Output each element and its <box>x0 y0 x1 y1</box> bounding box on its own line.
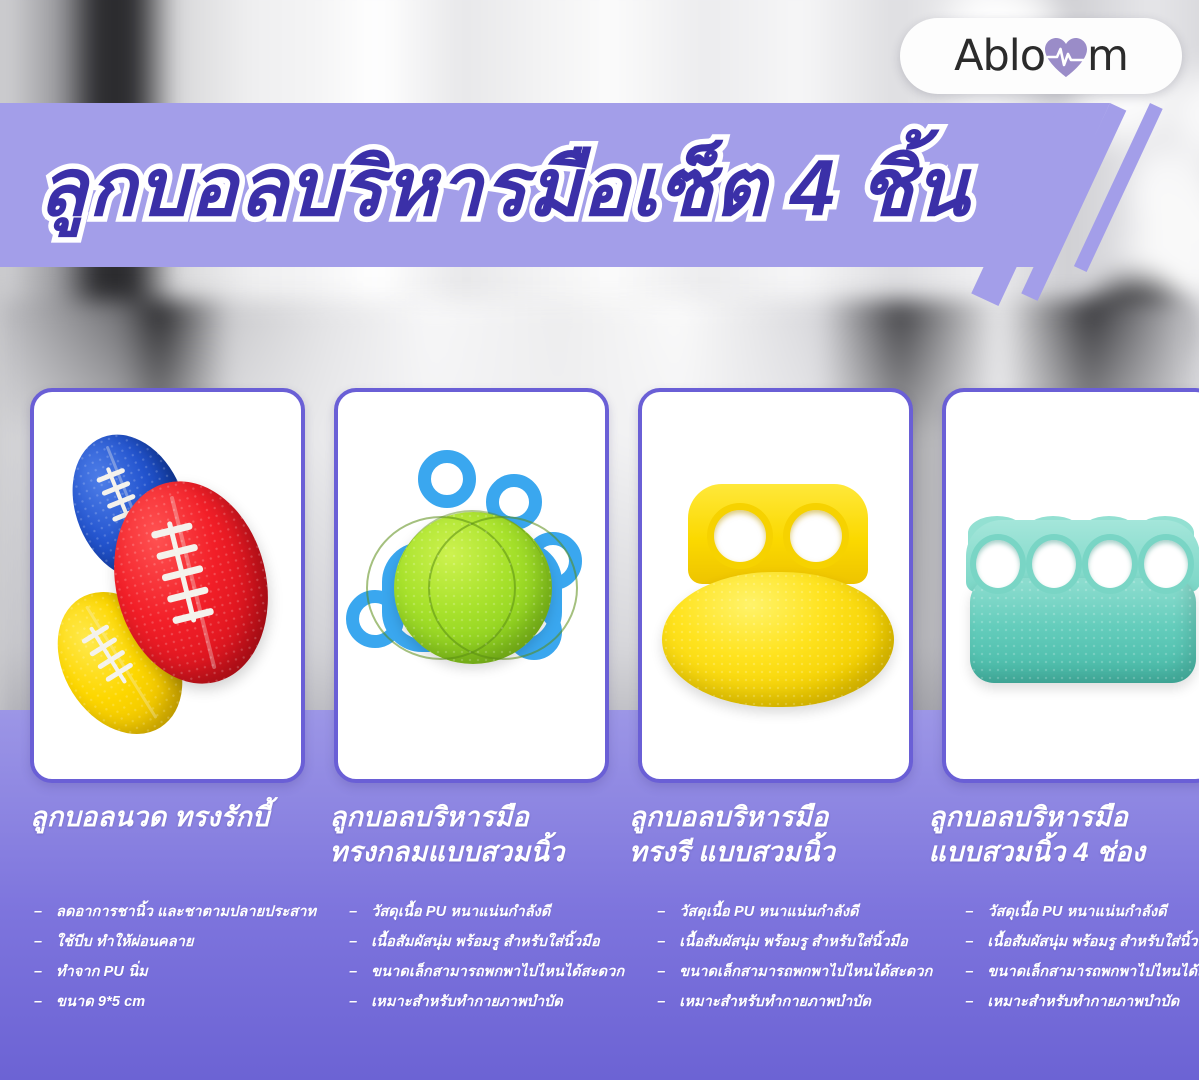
product-image-card-1[interactable] <box>30 388 305 783</box>
list-item: ทำจาก PU นิ่ม <box>30 965 316 981</box>
teal-grip-body <box>970 578 1196 683</box>
product-title-2-line2: ทรงกลมแบบสวมนิ้ว <box>330 835 601 870</box>
green-exercise-ball <box>394 512 552 664</box>
product-image-card-4[interactable] <box>942 388 1199 783</box>
yellow-two-hole-grip-photo <box>642 392 909 779</box>
list-item: วัสดุเนื้อ PU หนาแน่นกำลังดี <box>653 905 932 921</box>
teal-grip-hole-2 <box>1032 540 1076 588</box>
list-item: ขนาดเล็กสามารถพกพาไปไหนได้สะดวก <box>961 965 1199 981</box>
product-title-3-line2: ทรงรี แบบสวมนิ้ว <box>629 835 900 870</box>
feature-list-3: วัสดุเนื้อ PU หนาแน่นกำลังดี เนื้อสัมผัส… <box>653 905 932 1011</box>
brand-logo: Ablo m <box>900 18 1182 94</box>
feature-list-2: วัสดุเนื้อ PU หนาแน่นกำลังดี เนื้อสัมผัส… <box>345 905 624 1011</box>
teal-grip-hole-3 <box>1088 540 1132 588</box>
product-image-card-3[interactable] <box>638 388 913 783</box>
list-item: ขนาดเล็กสามารถพกพาไปไหนได้สะดวก <box>653 965 932 981</box>
list-item: วัสดุเนื้อ PU หนาแน่นกำลังดี <box>961 905 1199 921</box>
product-title-2-line1: ลูกบอลบริหารมือ <box>330 802 530 832</box>
teal-grip-hole-4 <box>1144 540 1188 588</box>
product-title-1: ลูกบอลนวด ทรงรักบี้ <box>30 800 301 872</box>
product-title-4: ลูกบอลบริหารมือ แบบสวมนิ้ว 4 ช่อง <box>929 800 1199 872</box>
list-item: เหมาะสำหรับทำกายภาพบำบัด <box>345 995 624 1011</box>
page-title: ลูกบอลบริหารมือเซ็ต 4 ชิ้น <box>38 118 1058 258</box>
list-item: เนื้อสัมผัสนุ่ม พร้อมรู สำหรับใส่นิ้วมือ <box>961 935 1199 951</box>
list-item: เนื้อสัมผัสนุ่ม พร้อมรู สำหรับใส่นิ้วมือ <box>653 935 932 951</box>
product-cards-row <box>0 388 1199 788</box>
product-title-4-line1: ลูกบอลบริหารมือ <box>929 802 1129 832</box>
yellow-grip-body <box>662 572 894 707</box>
product-title-4-line2: แบบสวมนิ้ว 4 ช่อง <box>929 835 1199 870</box>
product-title-3-line1: ลูกบอลบริหารมือ <box>629 802 829 832</box>
logo-text-after: m <box>1087 35 1128 78</box>
feature-list-4: วัสดุเนื้อ PU หนาแน่นกำลังดี เนื้อสัมผัส… <box>961 905 1199 1011</box>
list-item: ลดอาการชานิ้ว และชาตามปลายประสาท <box>30 905 316 921</box>
heart-pulse-icon <box>1043 34 1089 78</box>
teal-four-hole-grip-photo <box>946 392 1199 779</box>
finger-loop-1 <box>418 450 476 508</box>
list-item: ขนาด 9*5 cm <box>30 995 316 1011</box>
list-item: เนื้อสัมผัสนุ่ม พร้อมรู สำหรับใส่นิ้วมือ <box>345 935 624 951</box>
list-item: ขนาดเล็กสามารถพกพาไปไหนได้สะดวก <box>345 965 624 981</box>
list-item: วัสดุเนื้อ PU หนาแน่นกำลังดี <box>345 905 624 921</box>
product-features-row: ลดอาการชานิ้ว และชาตามปลายประสาท ใช้บีบ … <box>0 905 1199 1025</box>
rugby-stress-balls-photo <box>34 392 301 779</box>
product-title-1-line1: ลูกบอลนวด ทรงรักบี้ <box>30 802 269 832</box>
product-title-2: ลูกบอลบริหารมือ ทรงกลมแบบสวมนิ้ว <box>330 800 601 872</box>
product-captions-row: ลูกบอลนวด ทรงรักบี้ ลูกบอลบริหารมือ ทรงก… <box>0 800 1199 872</box>
product-title-3: ลูกบอลบริหารมือ ทรงรี แบบสวมนิ้ว <box>629 800 900 872</box>
logo-text-before: Ablo <box>954 35 1045 78</box>
feature-list-1: ลดอาการชานิ้ว และชาตามปลายประสาท ใช้บีบ … <box>30 905 316 1011</box>
yellow-grip-hole-1 <box>714 510 766 562</box>
list-item: เหมาะสำหรับทำกายภาพบำบัด <box>961 995 1199 1011</box>
yellow-grip-hole-2 <box>790 510 842 562</box>
teal-grip-hole-1 <box>976 540 1020 588</box>
product-image-card-2[interactable] <box>334 388 609 783</box>
green-ball-finger-loops-photo <box>338 392 605 779</box>
list-item: เหมาะสำหรับทำกายภาพบำบัด <box>653 995 932 1011</box>
infographic-stage: Ablo m ลูกบอลบริหารมือเซ็ต 4 ชิ้น <box>0 0 1199 1080</box>
list-item: ใช้บีบ ทำให้ผ่อนคลาย <box>30 935 316 951</box>
